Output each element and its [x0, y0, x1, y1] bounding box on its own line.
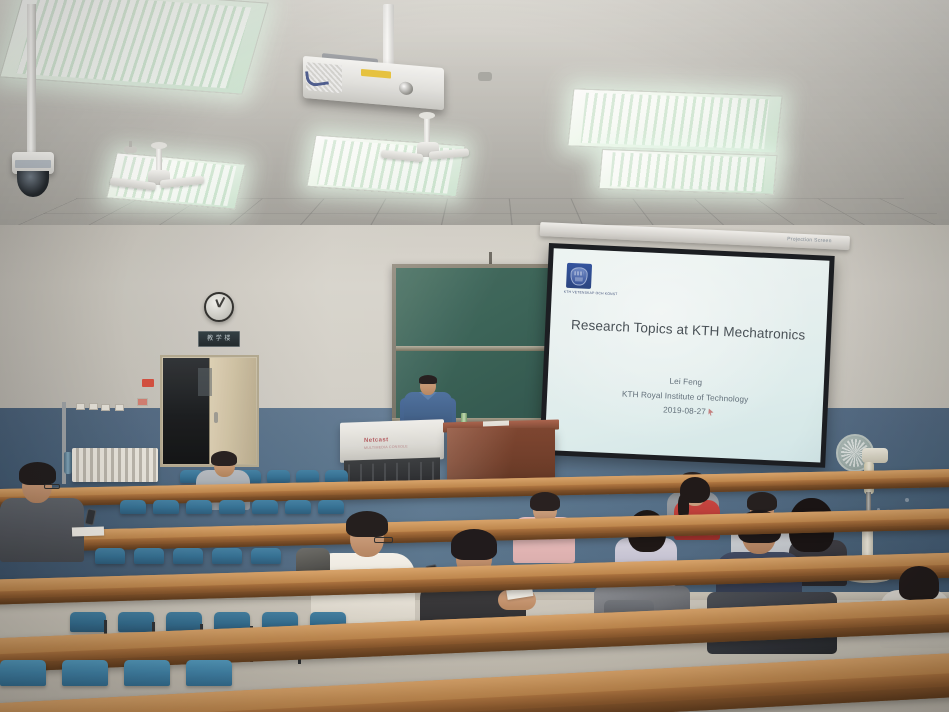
kth-crest-icon — [570, 267, 588, 286]
projector-lens-icon — [399, 81, 413, 95]
room-sign-label: 教 学 楼 — [207, 336, 231, 342]
slide-surface: KTH VETENSKAP OCH KONST Research Topics … — [545, 248, 830, 462]
auditorium-seat[interactable] — [173, 548, 203, 564]
lectern-sheen — [447, 428, 555, 484]
ceiling-fan-canopy — [419, 112, 435, 119]
wall-switch[interactable] — [89, 403, 98, 410]
wall-switch[interactable] — [115, 404, 124, 411]
seat-row — [120, 500, 344, 514]
student-hair — [530, 492, 560, 511]
auditorium-seat[interactable] — [118, 612, 154, 632]
auditorium-seat[interactable] — [70, 612, 106, 632]
wall-radiator — [72, 448, 158, 482]
av-control-console[interactable]: Netcast MULTIMEDIA CONSOLE — [340, 419, 444, 463]
presenter-hair — [419, 375, 437, 384]
ceiling — [0, 0, 949, 238]
auditorium-seat[interactable] — [95, 548, 125, 564]
auditorium-seat[interactable] — [120, 500, 146, 514]
wooden-lectern — [447, 428, 555, 484]
room-sign: 教 学 楼 — [198, 331, 240, 347]
student-hair — [19, 462, 56, 485]
auditorium-seat[interactable] — [134, 548, 164, 564]
wall-mark — [905, 498, 909, 502]
auditorium-seat[interactable] — [219, 500, 245, 514]
ceiling-fan-rod — [424, 116, 430, 144]
clock-minute-hand — [218, 297, 224, 307]
auditorium-seat[interactable] — [212, 548, 242, 564]
seat-row — [95, 548, 281, 564]
auditorium-seat[interactable] — [252, 500, 278, 514]
student-hair — [899, 566, 939, 600]
tablet-device[interactable] — [72, 526, 104, 536]
ceiling-speaker-icon — [478, 72, 492, 81]
projector-warning-label — [361, 69, 391, 79]
ceiling-fan-canopy — [151, 142, 167, 149]
projector-mount-rod — [383, 4, 394, 66]
auditorium-seat[interactable] — [251, 548, 281, 564]
student-hair — [747, 492, 777, 511]
auditorium-seat[interactable] — [186, 660, 232, 686]
auditorium-seat[interactable] — [186, 500, 212, 514]
water-bottle — [64, 452, 72, 474]
auditorium-seat[interactable] — [267, 470, 290, 483]
auditorium-seat[interactable] — [0, 660, 46, 686]
lectern-papers — [483, 421, 509, 427]
wall-switch[interactable] — [101, 404, 110, 411]
chalkboard-rail — [396, 346, 566, 351]
lecture-hall-photo: 教 学 楼 Projection Screen KTH VETENSKAP OC… — [0, 0, 949, 712]
pedestal-fan-motor — [862, 448, 888, 463]
smoke-detector-icon — [124, 146, 137, 153]
auditorium-seat[interactable] — [318, 500, 344, 514]
auditorium-seat[interactable] — [153, 500, 179, 514]
ceiling-light-panel — [567, 88, 782, 153]
door-handle-icon[interactable] — [214, 412, 218, 423]
emergency-switch[interactable] — [137, 398, 148, 406]
ceiling-light-panel — [599, 149, 778, 195]
console-brand-label: Netcast — [364, 437, 388, 444]
eyeglasses-icon — [374, 537, 393, 543]
wall-switch[interactable] — [76, 403, 85, 410]
classroom-door[interactable] — [209, 358, 256, 464]
projection-screen[interactable]: KTH VETENSKAP OCH KONST Research Topics … — [539, 243, 834, 468]
auditorium-seat[interactable] — [296, 470, 319, 483]
door-kick-plate — [198, 368, 212, 396]
camera-mount-rod — [27, 4, 36, 154]
console-sub-label: MULTIMEDIA CONSOLE — [364, 444, 408, 450]
seat-row — [0, 660, 248, 686]
screen-brand-label: Projection Screen — [787, 236, 832, 244]
auditorium-seat[interactable] — [285, 500, 311, 514]
student-hair — [451, 529, 497, 560]
ceiling-light-panel — [306, 135, 465, 198]
student-hair — [211, 451, 237, 466]
kth-crest-logo — [566, 263, 592, 289]
fire-equipment-sign — [142, 379, 154, 387]
wall-clock — [204, 292, 234, 322]
eyeglasses-icon — [44, 484, 60, 489]
auditorium-seat[interactable] — [62, 660, 108, 686]
student-hair — [346, 511, 388, 537]
auditorium-seat[interactable] — [124, 660, 170, 686]
ceiling-fan-rod — [156, 146, 162, 172]
